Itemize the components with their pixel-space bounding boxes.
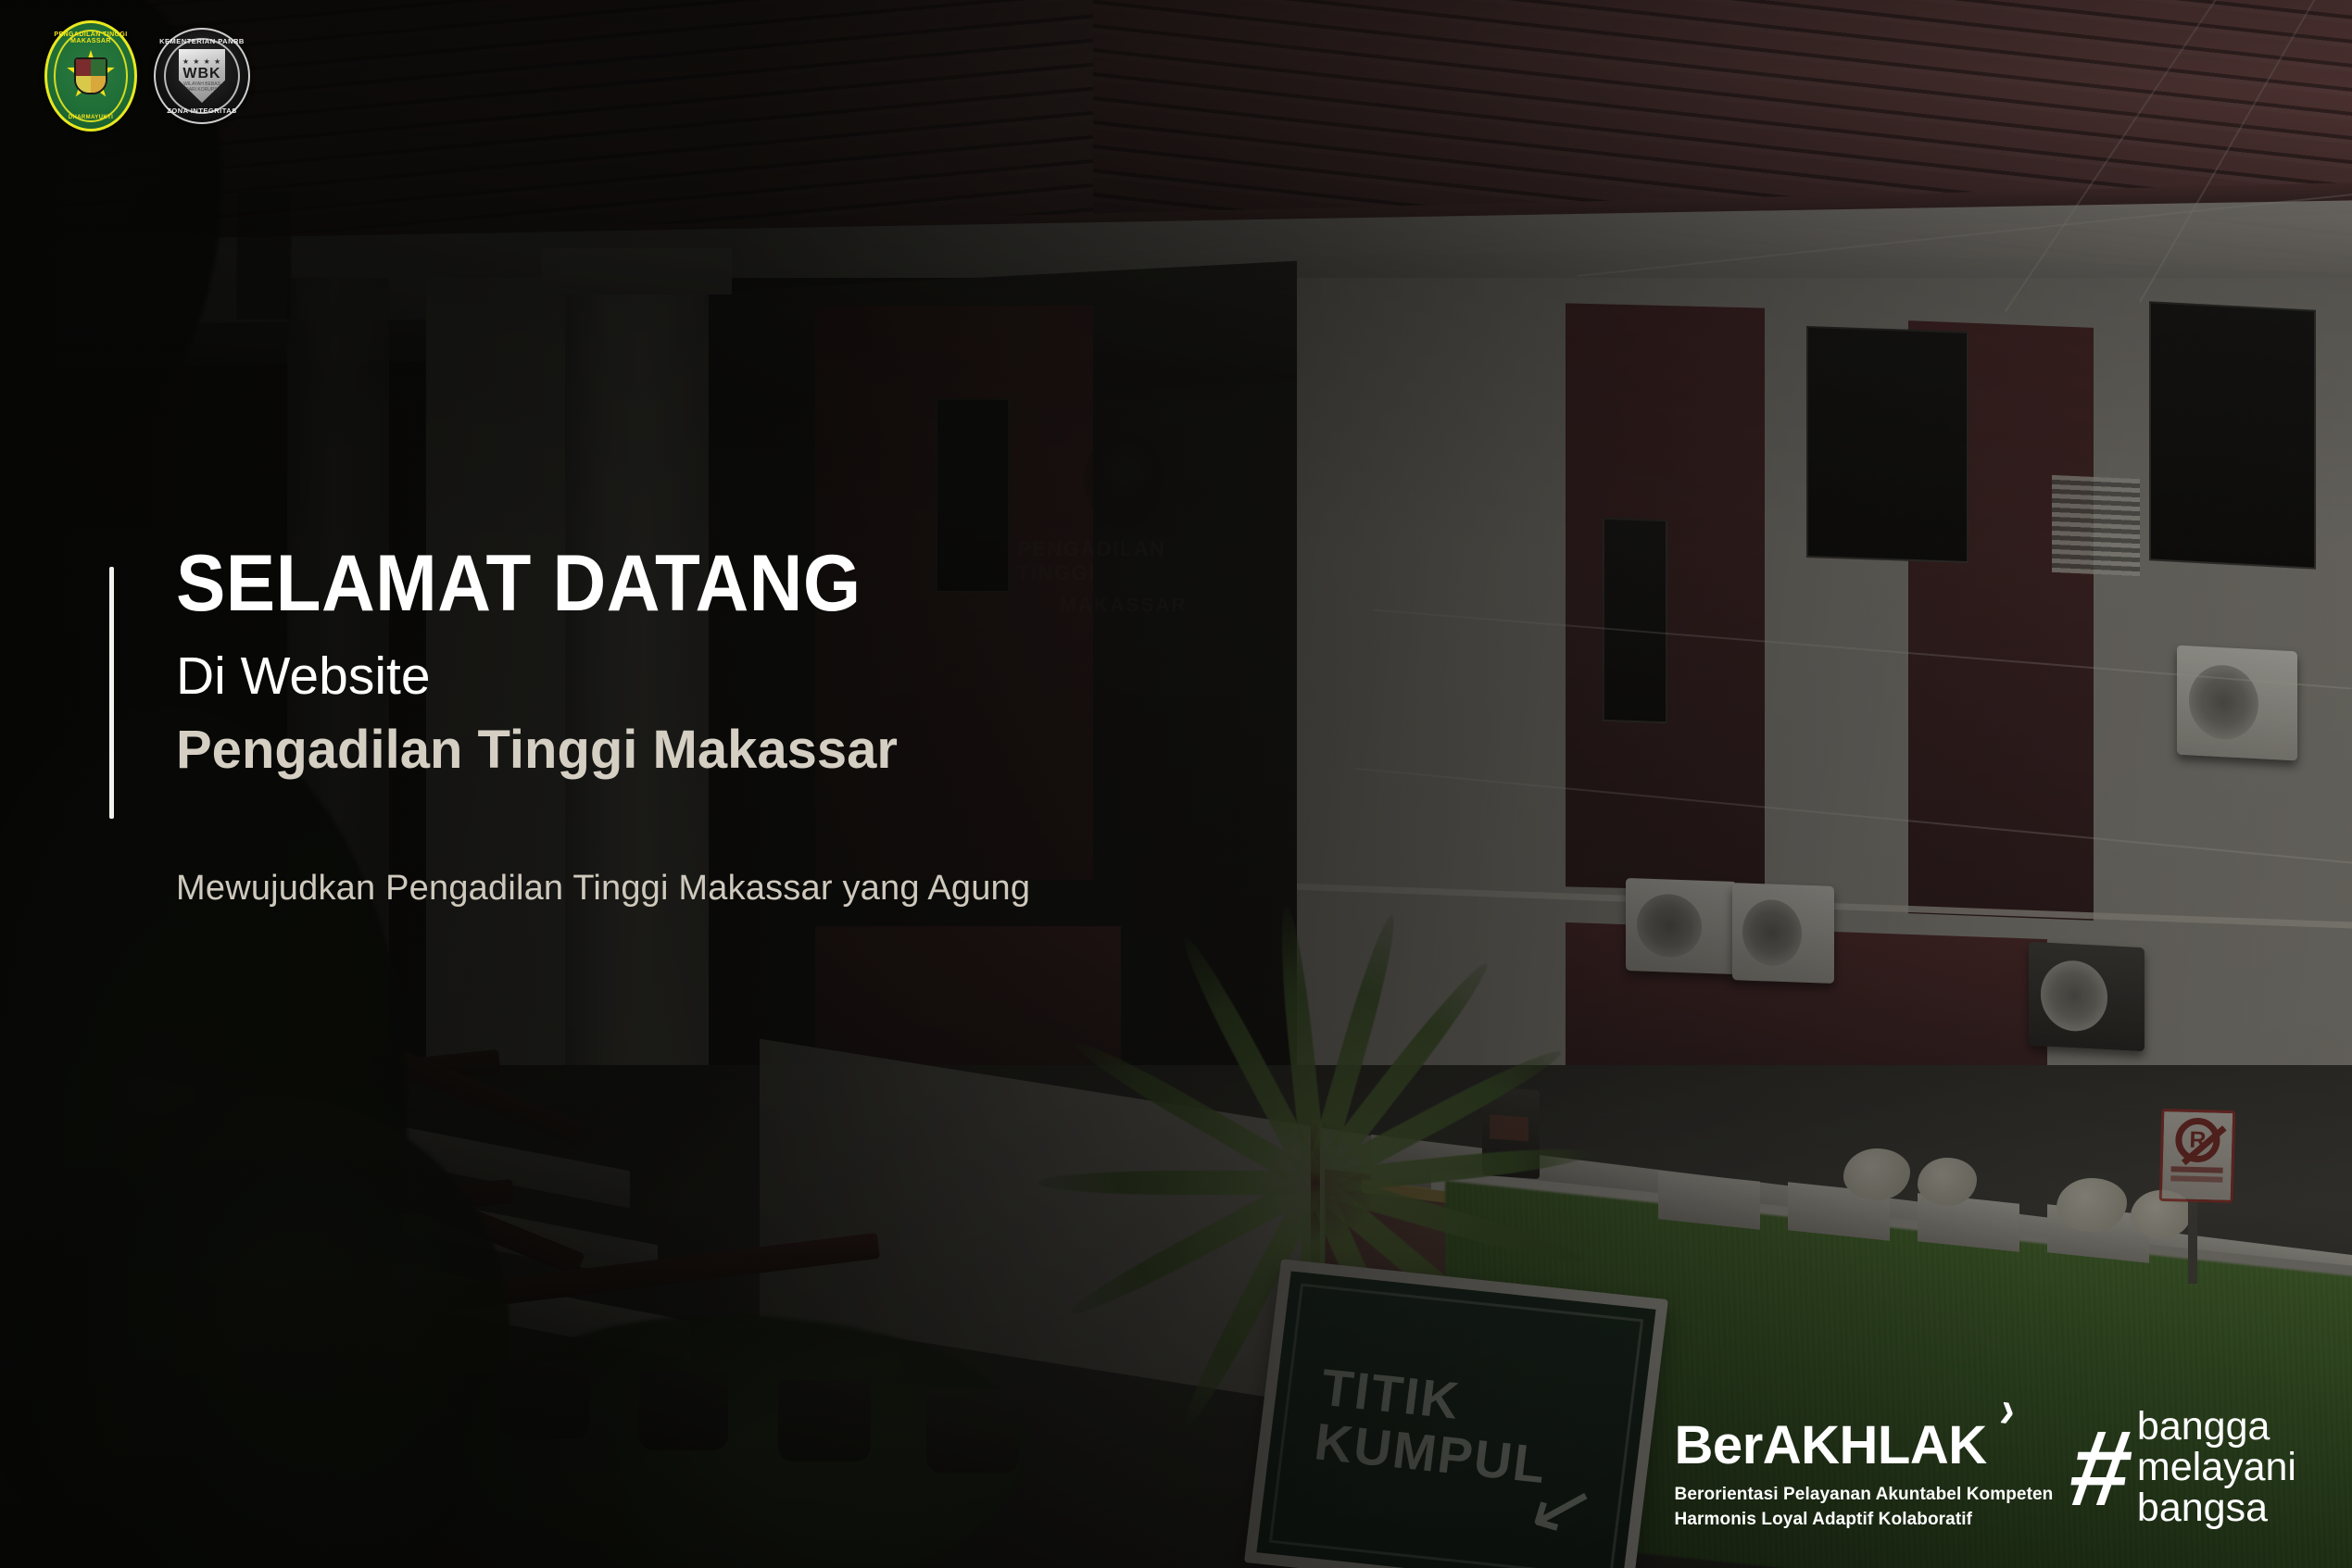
berakhlak-wordmark-row: BerAKHLAK › (1675, 1419, 1987, 1473)
berakhlak-values-line-2: Harmonis Loyal Adaptif Kolaboratif (1675, 1510, 1973, 1529)
hero-accent-bar (109, 567, 114, 819)
court-logo-top-text: PENGADILAN TINGGI MAKASSAR (47, 31, 134, 44)
hero-subheadline: Di Website (176, 647, 912, 706)
hero-copy: SELAMAT DATANG Di Website Pengadilan Tin… (176, 542, 912, 780)
bangga-melayani-bangsa-slogan: bangga melayani bangsa (2137, 1407, 2296, 1529)
slogan-line-2: melayani (2137, 1445, 2296, 1489)
hero-banner: PENGADILAN TINGGI MAKASSAR (0, 0, 2352, 1568)
institution-logos: PENGADILAN TINGGI MAKASSAR DHARMAYUKTI K… (44, 20, 250, 132)
vignette-overlay (0, 0, 2352, 1568)
wbk-zona-integritas-logo[interactable]: KEMENTERIAN PANRB ★ ★ ★ ★ WBK WILAYAH BE… (154, 28, 250, 124)
berakhlak-wordmark-group: BerAKHLAK › Berorientasi Pelayanan Akunt… (1675, 1419, 2054, 1533)
pengadilan-tinggi-makassar-logo[interactable]: PENGADILAN TINGGI MAKASSAR DHARMAYUKTI (44, 20, 137, 132)
berakhlak-values: Berorientasi Pelayanan Akuntabel Kompete… (1675, 1482, 2054, 1533)
hero-headline: SELAMAT DATANG (176, 542, 862, 625)
wbk-bottom-text: ZONA INTEGRITAS (156, 107, 248, 115)
stars-icon: ★ ★ ★ ★ (182, 58, 221, 66)
court-logo-bottom-text: DHARMAYUKTI (47, 115, 134, 120)
wbk-top-text: KEMENTERIAN PANRB (156, 37, 248, 45)
hero-tagline: Mewujudkan Pengadilan Tinggi Makassar ya… (176, 869, 1030, 909)
court-shield-icon (74, 57, 107, 94)
bangga-melayani-bangsa-group: # bangga melayani bangsa (2071, 1407, 2296, 1529)
berakhlak-logo-lockup: BerAKHLAK › Berorientasi Pelayanan Akunt… (1675, 1407, 2296, 1533)
wbk-abbreviation: WBK (182, 67, 220, 82)
hashtag-icon: # (2066, 1424, 2138, 1512)
slogan-line-1: bangga (2137, 1404, 2270, 1449)
berakhlak-values-line-1: Berorientasi Pelayanan Akuntabel Kompete… (1675, 1485, 2054, 1504)
hero-organization: Pengadilan Tinggi Makassar (176, 721, 912, 780)
slogan-line-3: bangsa (2137, 1486, 2268, 1530)
berakhlak-wordmark: BerAKHLAK (1675, 1415, 1987, 1475)
